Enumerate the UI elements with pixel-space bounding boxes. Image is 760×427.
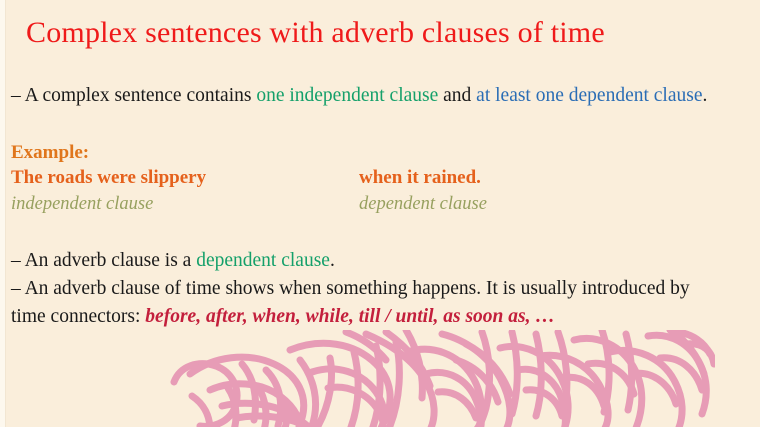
- example-note-row: independent clause dependent clause: [11, 191, 731, 217]
- definition-text-1: A complex sentence contains: [25, 85, 257, 106]
- definition-text-2: and: [438, 85, 476, 106]
- definition-dash: –: [11, 85, 25, 106]
- notes-line-1-period: .: [330, 250, 335, 271]
- definition-text-3: .: [703, 85, 708, 106]
- example-label: Example:: [11, 140, 731, 165]
- definition-paragraph: – A complex sentence contains one indepe…: [11, 82, 711, 109]
- notes-line-1: – An adverb clause is a dependent clause…: [11, 247, 711, 275]
- example-sentence-row: The roads were slippery when it rained.: [11, 165, 731, 191]
- notes-block: – An adverb clause is a dependent clause…: [11, 247, 711, 331]
- notes-line-1-highlight: dependent clause: [196, 250, 330, 271]
- slide-canvas: Complex sentences with adverb clauses of…: [0, 0, 760, 427]
- independent-clause-highlight: one independent clause: [256, 85, 438, 106]
- left-edge-strip: [0, 0, 6, 427]
- pink-scribble-doodle: [170, 330, 715, 427]
- page-title: Complex sentences with adverb clauses of…: [26, 16, 605, 50]
- time-connectors-list: before, after, when, while, till / until…: [145, 306, 555, 327]
- notes-line-2-dash: –: [11, 278, 25, 299]
- dependent-clause-highlight: at least one dependent clause: [476, 85, 702, 106]
- notes-line-2: – An adverb clause of time shows when so…: [11, 275, 711, 331]
- example-dependent-clause-note: dependent clause: [359, 191, 487, 217]
- example-dependent-clause: when it rained.: [359, 165, 481, 191]
- example-independent-clause-note: independent clause: [11, 191, 153, 217]
- notes-line-1-text: An adverb clause is a: [25, 250, 197, 271]
- notes-line-1-dash: –: [11, 250, 25, 271]
- example-independent-clause: The roads were slippery: [11, 165, 206, 191]
- example-block: Example: The roads were slippery when it…: [11, 140, 731, 217]
